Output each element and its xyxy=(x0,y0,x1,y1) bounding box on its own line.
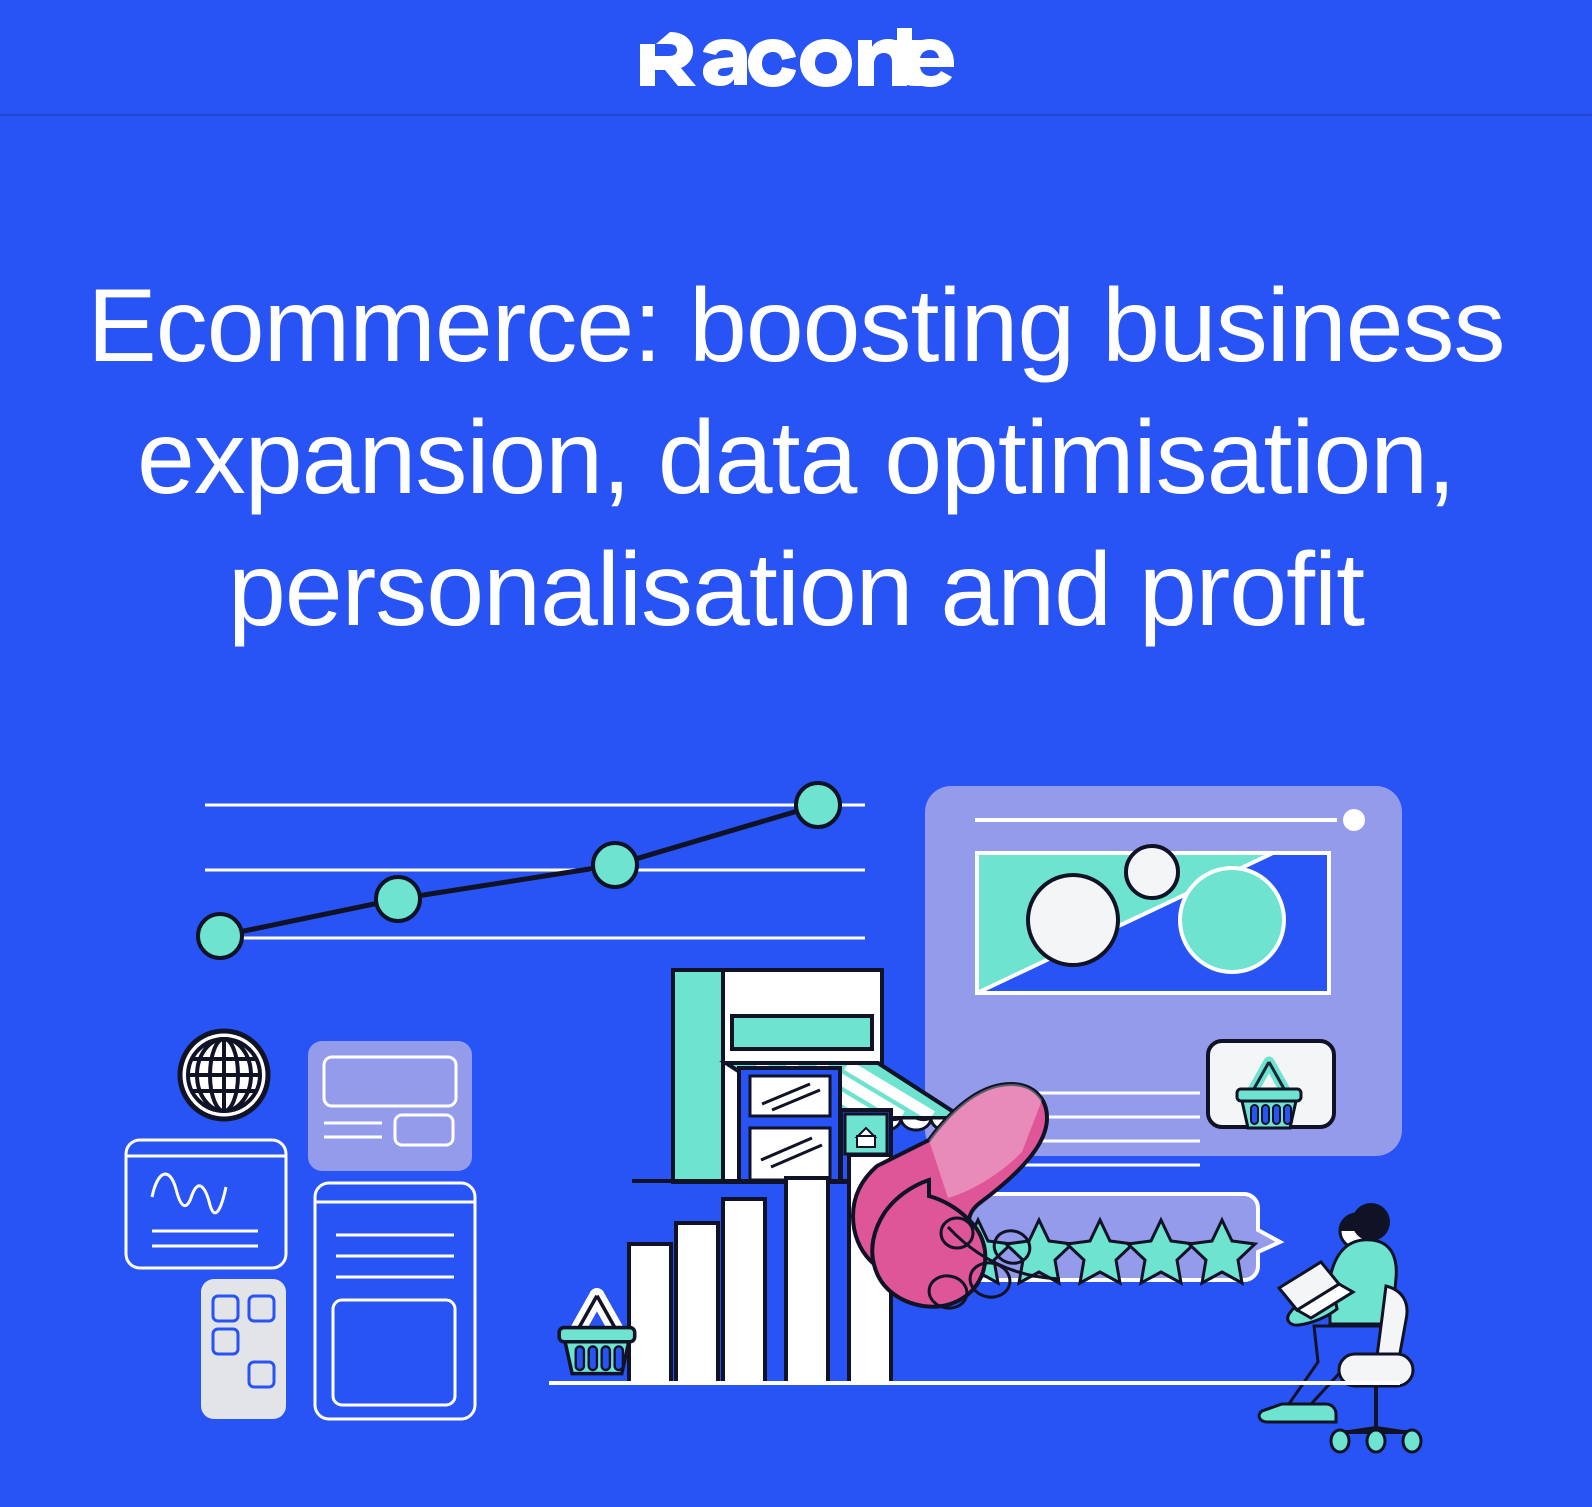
document-panel xyxy=(315,1183,475,1419)
site-header xyxy=(0,0,1592,116)
page-title: Ecommerce: boosting business expansion, … xyxy=(0,260,1592,656)
hero-media-panel xyxy=(977,846,1329,993)
add-to-basket-button xyxy=(1208,1041,1334,1128)
analytics-window xyxy=(126,1140,286,1268)
hero-illustration xyxy=(0,740,1592,1480)
page-root: Ecommerce: boosting business expansion, … xyxy=(0,0,1592,1507)
person-at-laptop xyxy=(1259,1203,1421,1452)
raconteur-logo[interactable] xyxy=(636,26,956,88)
basket-icon xyxy=(559,1296,635,1374)
form-card xyxy=(308,1041,472,1171)
line-chart-graphic xyxy=(198,783,865,958)
app-grid-panel xyxy=(201,1279,286,1419)
raconteur-wordmark-icon xyxy=(636,26,956,88)
globe-icon xyxy=(180,1031,268,1119)
bar-chart-graphic xyxy=(559,1155,891,1383)
